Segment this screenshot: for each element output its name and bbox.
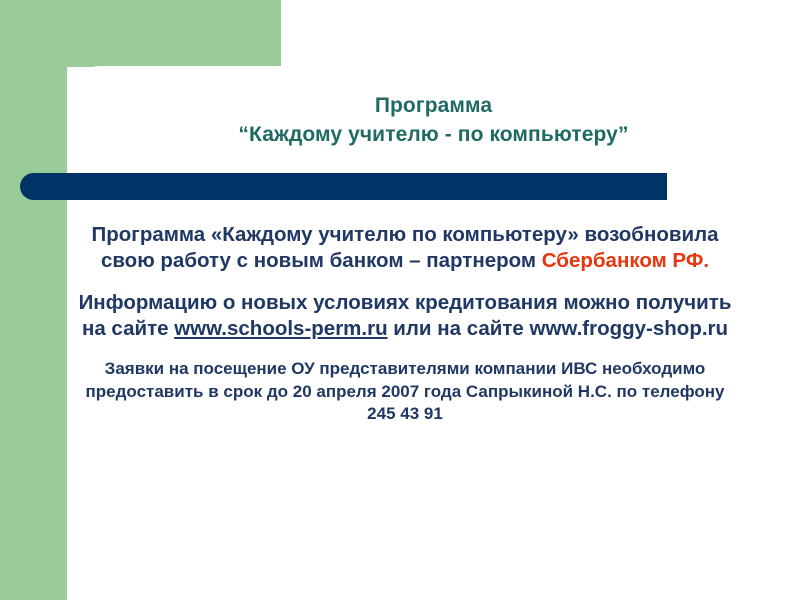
paragraph-program-renewal: Программа «Каждому учителю по компьютеру… (75, 222, 735, 274)
slide-canvas: Программа “Каждому учителю - по компьюте… (0, 0, 800, 600)
slide-body: Программа «Каждому учителю по компьютеру… (75, 222, 735, 425)
slide-title: Программа “Каждому учителю - по компьюте… (67, 92, 800, 150)
green-top-block-decoration (0, 0, 281, 67)
slide-title-line-1: Программа (67, 92, 800, 121)
paragraph-2-trail-text: или на сайте www.froggy-shop.ru (388, 317, 728, 340)
slide-title-line-2: “Каждому учителю - по компьютеру” (67, 121, 800, 150)
navy-divider-bar (20, 173, 667, 200)
paragraph-credit-info: Информацию о новых условиях кредитования… (75, 290, 735, 342)
paragraph-application-deadline: Заявки на посещение ОУ представителями к… (75, 358, 735, 425)
green-sidebar-decoration (0, 0, 67, 600)
sberbank-accent-text: Сбербанком РФ. (542, 249, 709, 272)
schools-perm-link[interactable]: www.schools-perm.ru (174, 317, 387, 340)
